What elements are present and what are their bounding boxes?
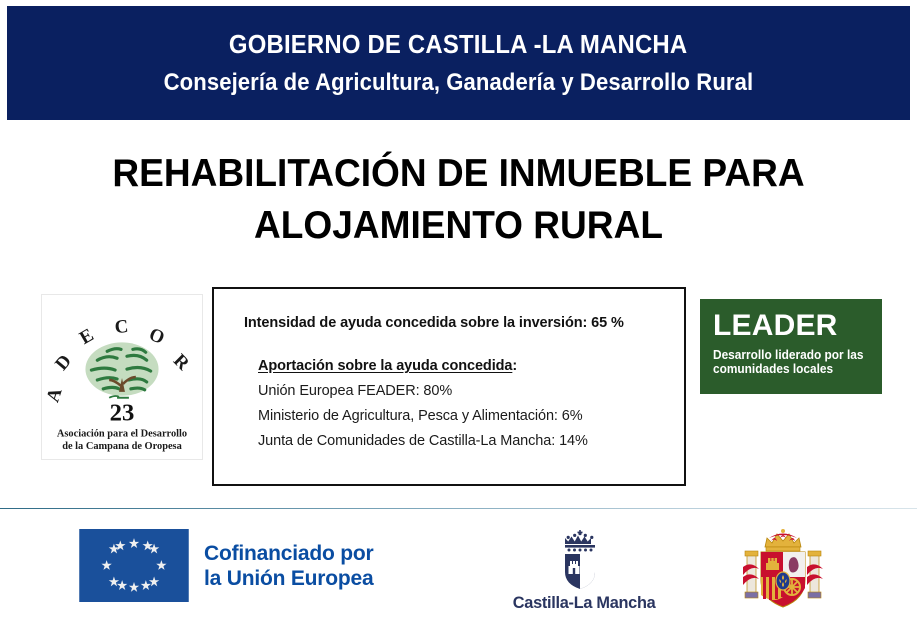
- adecor-letter-a: A: [42, 385, 66, 405]
- contribution-row: Unión Europea FEADER: 80%: [258, 383, 684, 399]
- header-department-title: Consejería de Agricultura, Ganadería y D…: [164, 69, 754, 97]
- leader-subtitle-line-2: comunidades locales: [713, 362, 874, 376]
- header-government-title: GOBIERNO DE CASTILLA -LA MANCHA: [229, 29, 687, 60]
- adecor-letter-e: E: [76, 324, 97, 348]
- footer-logos: Cofinanciado por la Unión Europea: [0, 515, 917, 622]
- contribution-section-title: Aportación sobre la ayuda concedida:: [258, 358, 684, 374]
- castilla-la-mancha-label: Castilla-La Mancha: [513, 593, 647, 613]
- contribution-section-title-text: Aportación sobre la ayuda concedida: [258, 358, 512, 374]
- adecor-subtitle-line-1: Asociación para el Desarrollo: [57, 428, 187, 439]
- adecor-letter-o: O: [146, 324, 167, 349]
- spain-coat-of-arms-logo: [735, 525, 831, 615]
- eu-text-line-1: Cofinanciado por: [204, 541, 374, 566]
- adecor-number: 23: [110, 399, 135, 426]
- funding-info-box: Intensidad de ayuda concedida sobre la i…: [212, 287, 686, 486]
- aid-intensity-headline: Intensidad de ayuda concedida sobre la i…: [244, 315, 684, 331]
- leader-logo-box: LEADER Desarrollo liderado por las comun…: [700, 299, 882, 394]
- eu-text-line-2: la Unión Europea: [204, 566, 374, 591]
- adecor-letter-c: C: [114, 316, 129, 338]
- adecor-logo: A D E C O R: [41, 294, 203, 460]
- spain-coat-of-arms-icon: [735, 525, 831, 615]
- leader-subtitle-line-1: Desarrollo liderado por las: [713, 348, 874, 362]
- european-union-logo: Cofinanciado por la Unión Europea: [78, 529, 374, 602]
- page-title-line-2: ALOJAMIENTO RURAL: [23, 200, 894, 252]
- contribution-row: Junta de Comunidades de Castilla-La Manc…: [258, 433, 684, 449]
- leader-subtitle: Desarrollo liderado por las comunidades …: [713, 348, 874, 376]
- eu-cofinancing-text: Cofinanciado por la Unión Europea: [204, 541, 374, 591]
- castilla-la-mancha-shield-icon: [510, 528, 650, 590]
- adecor-logo-graphic: A D E C O R: [42, 295, 202, 459]
- page-title-line-1: REHABILITACIÓN DE INMUEBLE PARA: [23, 148, 894, 200]
- adecor-subtitle-line-2: de la Campana de Oropesa: [62, 441, 182, 452]
- eu-flag-icon: [78, 529, 190, 602]
- castilla-la-mancha-logo: Castilla-La Mancha: [510, 528, 650, 613]
- leader-title: LEADER: [713, 310, 882, 342]
- contribution-section-title-colon: :: [512, 358, 517, 374]
- adecor-letter-d: D: [51, 351, 76, 375]
- contribution-row: Ministerio de Agricultura, Pesca y Alime…: [258, 408, 684, 424]
- footer-divider: [0, 508, 917, 509]
- government-header-banner: GOBIERNO DE CASTILLA -LA MANCHA Consejer…: [7, 6, 910, 120]
- page-title: REHABILITACIÓN DE INMUEBLE PARA ALOJAMIE…: [23, 148, 894, 252]
- adecor-letter-r: R: [169, 350, 194, 375]
- tree-icon: [85, 342, 158, 397]
